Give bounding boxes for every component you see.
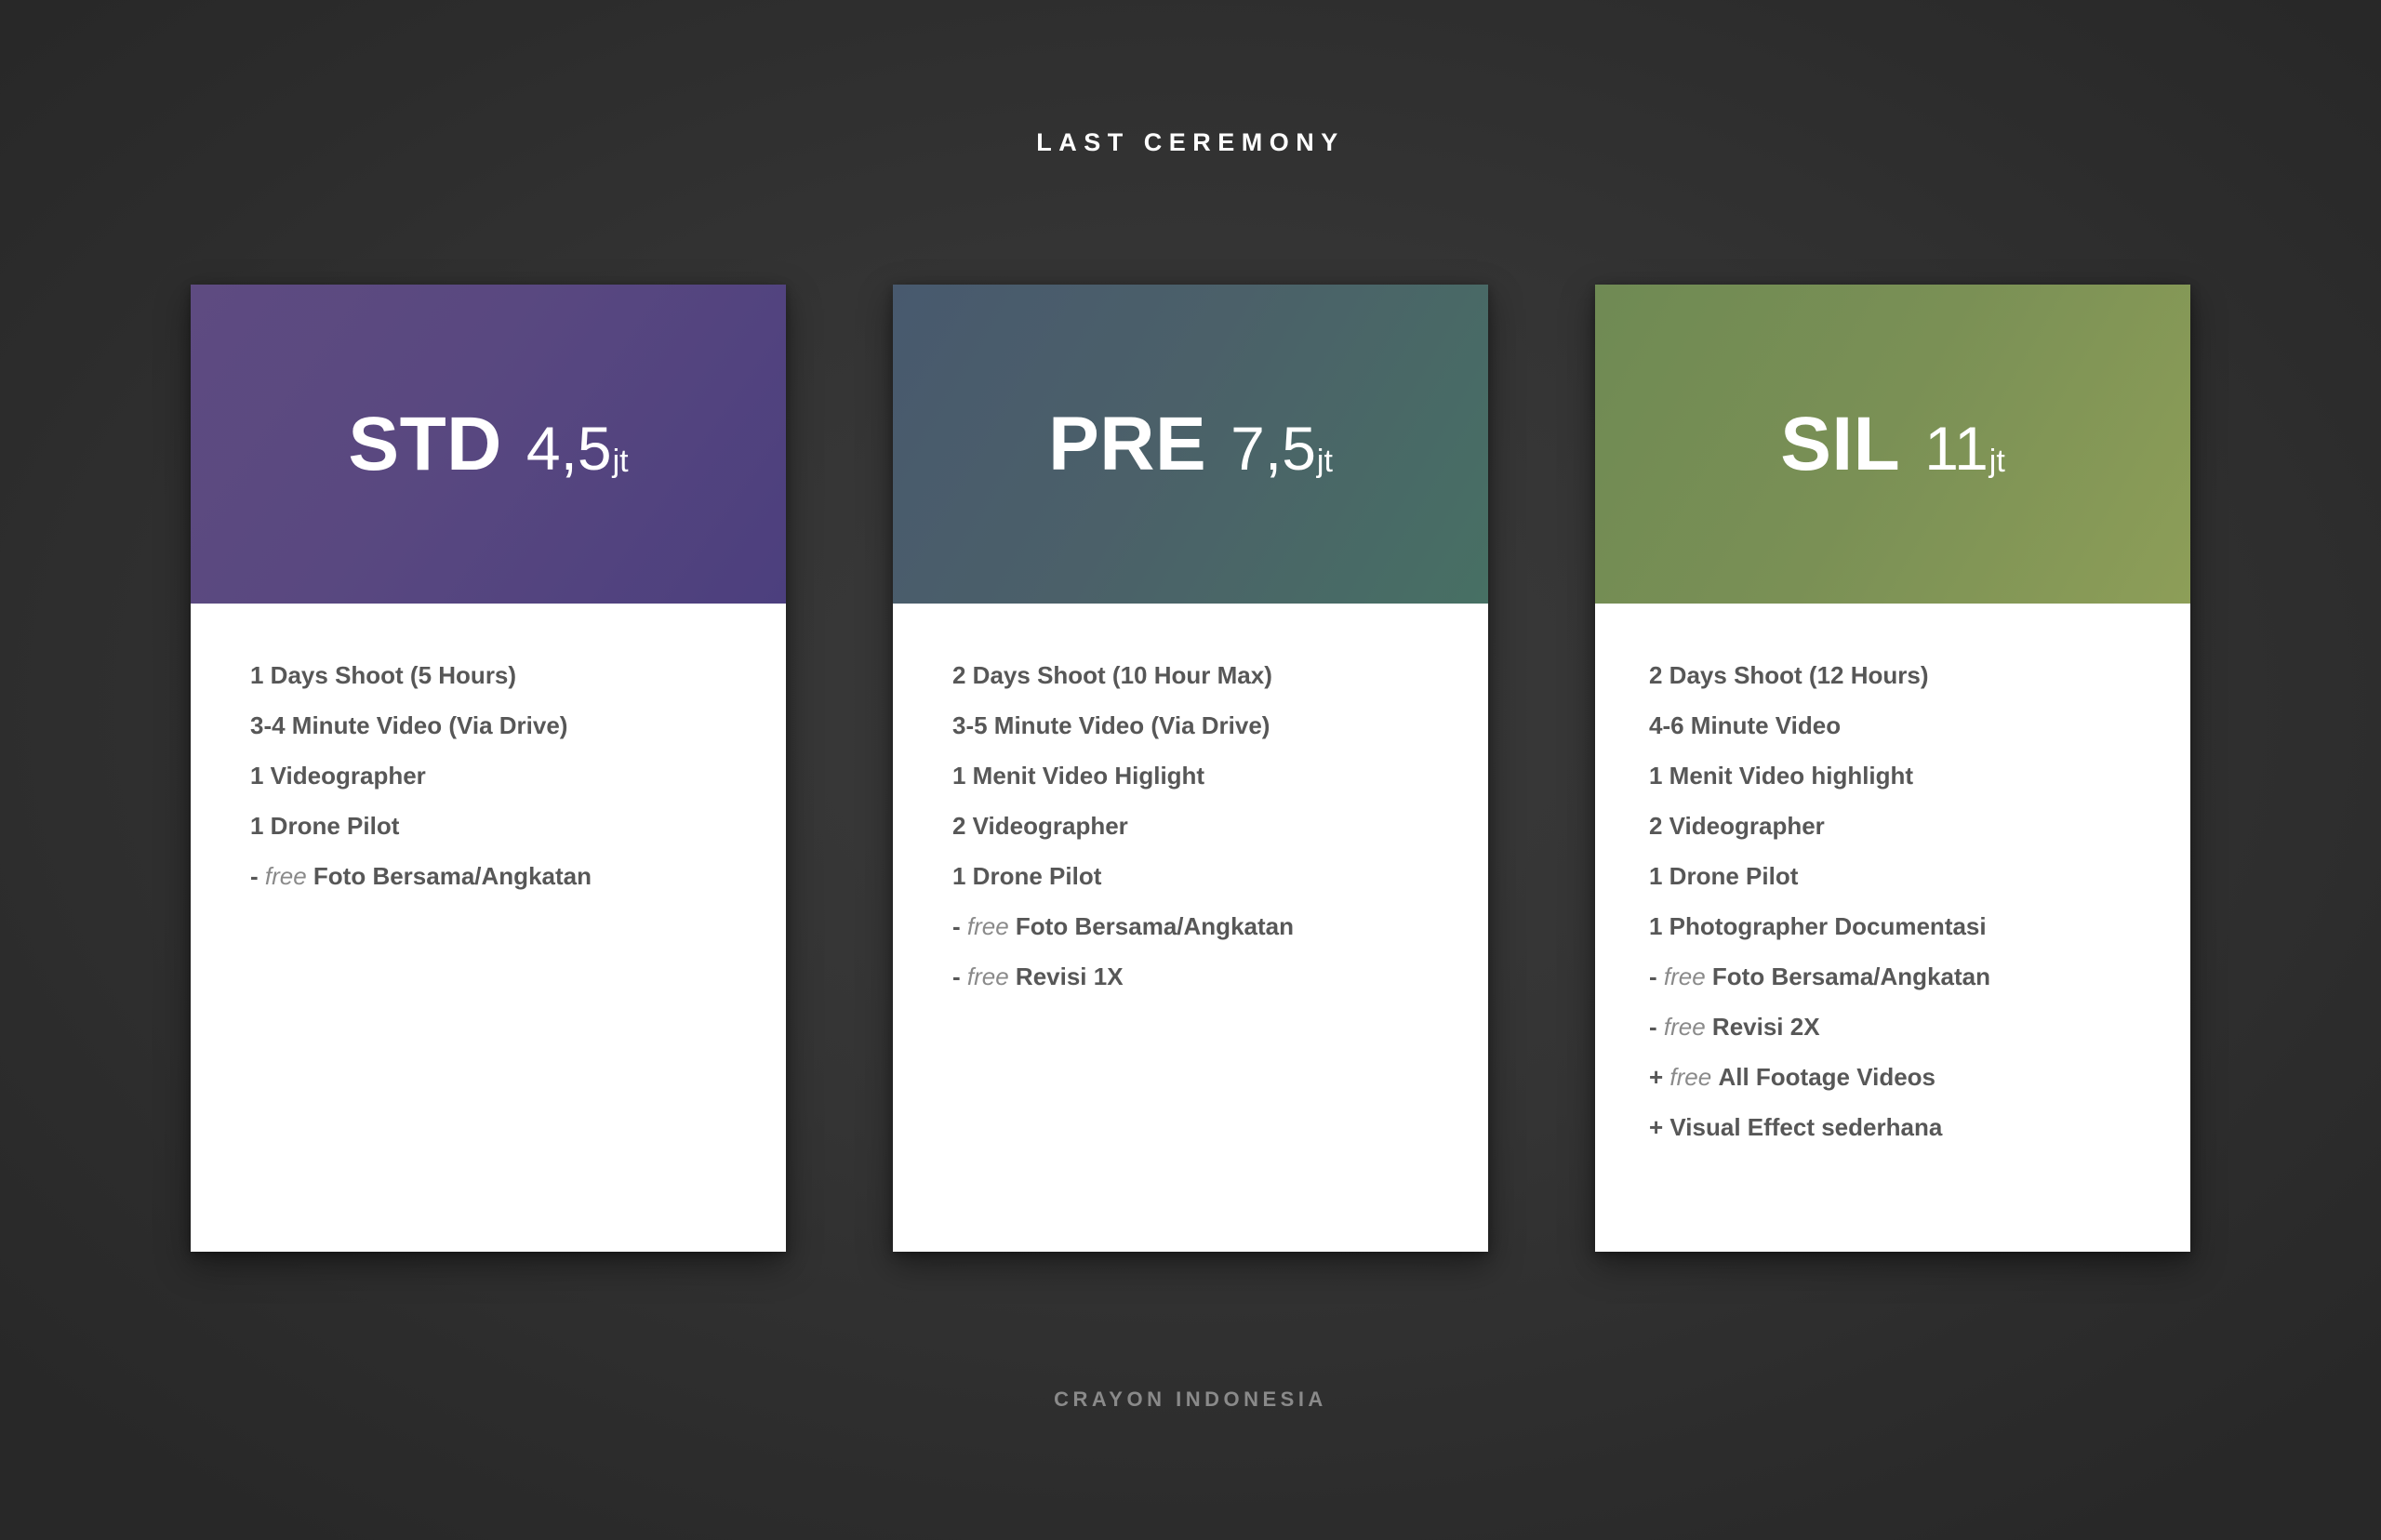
feature-item: 2 Days Shoot (10 Hour Max): [952, 663, 1488, 713]
plan-heading-sil: SIL 11 jt: [1780, 406, 2005, 483]
feature-list-sil: 2 Days Shoot (12 Hours)4-6 Minute Video1…: [1595, 663, 2190, 1165]
feature-text: All Footage Videos: [1718, 1063, 1935, 1091]
feature-item: 2 Videographer: [1649, 814, 2190, 864]
page-title: LAST CEREMONY: [0, 130, 2381, 155]
plan-price-sil: 11: [1924, 418, 1989, 479]
feature-text: 2 Videographer: [952, 812, 1128, 840]
feature-prefix: -: [1649, 1013, 1664, 1041]
page-footer: CRAYON INDONESIA: [0, 1389, 2381, 1410]
feature-item: + free All Footage Videos: [1649, 1065, 2190, 1115]
plan-unit-pre: jt: [1317, 445, 1333, 477]
plan-heading-std: STD 4,5 jt: [348, 406, 628, 483]
card-header-std: STD 4,5 jt: [191, 285, 786, 604]
card-body-pre: 2 Days Shoot (10 Hour Max)3-5 Minute Vid…: [893, 604, 1488, 1252]
feature-text: 1 Drone Pilot: [1649, 862, 1798, 890]
pricing-page: LAST CEREMONY STD 4,5 jt 1 Days Shoot (5…: [0, 0, 2381, 1540]
feature-item: 2 Videographer: [952, 814, 1488, 864]
feature-item: 4-6 Minute Video: [1649, 713, 2190, 763]
feature-text: 3-5 Minute Video (Via Drive): [952, 711, 1270, 739]
plan-code-std: STD: [348, 406, 502, 483]
feature-item: - free Revisi 1X: [952, 964, 1488, 1015]
plan-code-pre: PRE: [1048, 406, 1206, 483]
card-body-std: 1 Days Shoot (5 Hours)3-4 Minute Video (…: [191, 604, 786, 1252]
feature-item: 3-4 Minute Video (Via Drive): [250, 713, 786, 763]
feature-item: 1 Days Shoot (5 Hours): [250, 663, 786, 713]
feature-item: 1 Photographer Documentasi: [1649, 914, 2190, 964]
feature-text: Foto Bersama/Angkatan: [1712, 962, 1990, 990]
feature-free-tag: free: [1669, 1063, 1718, 1091]
pricing-card-sil[interactable]: SIL 11 jt 2 Days Shoot (12 Hours)4-6 Min…: [1595, 285, 2190, 1252]
feature-text: Revisi 2X: [1712, 1013, 1820, 1041]
feature-text: 4-6 Minute Video: [1649, 711, 1841, 739]
feature-text: Foto Bersama/Angkatan: [1016, 912, 1294, 940]
pricing-cards-row: STD 4,5 jt 1 Days Shoot (5 Hours)3-4 Min…: [191, 285, 2190, 1252]
feature-prefix: -: [952, 912, 967, 940]
card-body-sil: 2 Days Shoot (12 Hours)4-6 Minute Video1…: [1595, 604, 2190, 1252]
feature-prefix: +: [1649, 1063, 1669, 1091]
feature-text: 1 Drone Pilot: [952, 862, 1101, 890]
feature-text: 1 Menit Video highlight: [1649, 762, 1913, 790]
plan-price-pre: 7,5: [1230, 418, 1316, 479]
feature-free-tag: free: [1664, 1013, 1712, 1041]
feature-item: - free Foto Bersama/Angkatan: [1649, 964, 2190, 1015]
plan-code-sil: SIL: [1780, 406, 1900, 483]
feature-item: - free Foto Bersama/Angkatan: [250, 864, 786, 914]
feature-text: 1 Videographer: [250, 762, 426, 790]
feature-text: Visual Effect sederhana: [1669, 1113, 1942, 1141]
feature-text: 2 Days Shoot (10 Hour Max): [952, 661, 1272, 689]
feature-text: 1 Photographer Documentasi: [1649, 912, 1987, 940]
feature-free-tag: free: [967, 962, 1016, 990]
feature-free-tag: free: [265, 862, 313, 890]
plan-price-std: 4,5: [526, 418, 612, 479]
feature-text: 2 Days Shoot (12 Hours): [1649, 661, 1929, 689]
plan-unit-sil: jt: [1989, 445, 2005, 477]
feature-free-tag: free: [1664, 962, 1712, 990]
feature-item: 3-5 Minute Video (Via Drive): [952, 713, 1488, 763]
feature-text: Foto Bersama/Angkatan: [313, 862, 592, 890]
feature-free-tag: free: [967, 912, 1016, 940]
plan-unit-std: jt: [613, 445, 629, 477]
feature-text: 2 Videographer: [1649, 812, 1825, 840]
feature-prefix: -: [250, 862, 265, 890]
feature-text: 1 Menit Video Higlight: [952, 762, 1204, 790]
pricing-card-pre[interactable]: PRE 7,5 jt 2 Days Shoot (10 Hour Max)3-5…: [893, 285, 1488, 1252]
feature-item: 1 Menit Video highlight: [1649, 763, 2190, 814]
card-header-sil: SIL 11 jt: [1595, 285, 2190, 604]
feature-item: 1 Drone Pilot: [1649, 864, 2190, 914]
feature-prefix: +: [1649, 1113, 1669, 1141]
feature-text: 1 Days Shoot (5 Hours): [250, 661, 516, 689]
pricing-card-std[interactable]: STD 4,5 jt 1 Days Shoot (5 Hours)3-4 Min…: [191, 285, 786, 1252]
feature-item: 1 Drone Pilot: [250, 814, 786, 864]
feature-item: + Visual Effect sederhana: [1649, 1115, 2190, 1165]
feature-item: - free Revisi 2X: [1649, 1015, 2190, 1065]
feature-item: 2 Days Shoot (12 Hours): [1649, 663, 2190, 713]
feature-text: 3-4 Minute Video (Via Drive): [250, 711, 567, 739]
feature-list-std: 1 Days Shoot (5 Hours)3-4 Minute Video (…: [191, 663, 786, 914]
feature-item: 1 Videographer: [250, 763, 786, 814]
feature-item: 1 Menit Video Higlight: [952, 763, 1488, 814]
plan-heading-pre: PRE 7,5 jt: [1048, 406, 1333, 483]
feature-text: 1 Drone Pilot: [250, 812, 399, 840]
feature-item: 1 Drone Pilot: [952, 864, 1488, 914]
card-header-pre: PRE 7,5 jt: [893, 285, 1488, 604]
feature-text: Revisi 1X: [1016, 962, 1124, 990]
feature-prefix: -: [1649, 962, 1664, 990]
feature-item: - free Foto Bersama/Angkatan: [952, 914, 1488, 964]
feature-list-pre: 2 Days Shoot (10 Hour Max)3-5 Minute Vid…: [893, 663, 1488, 1015]
feature-prefix: -: [952, 962, 967, 990]
